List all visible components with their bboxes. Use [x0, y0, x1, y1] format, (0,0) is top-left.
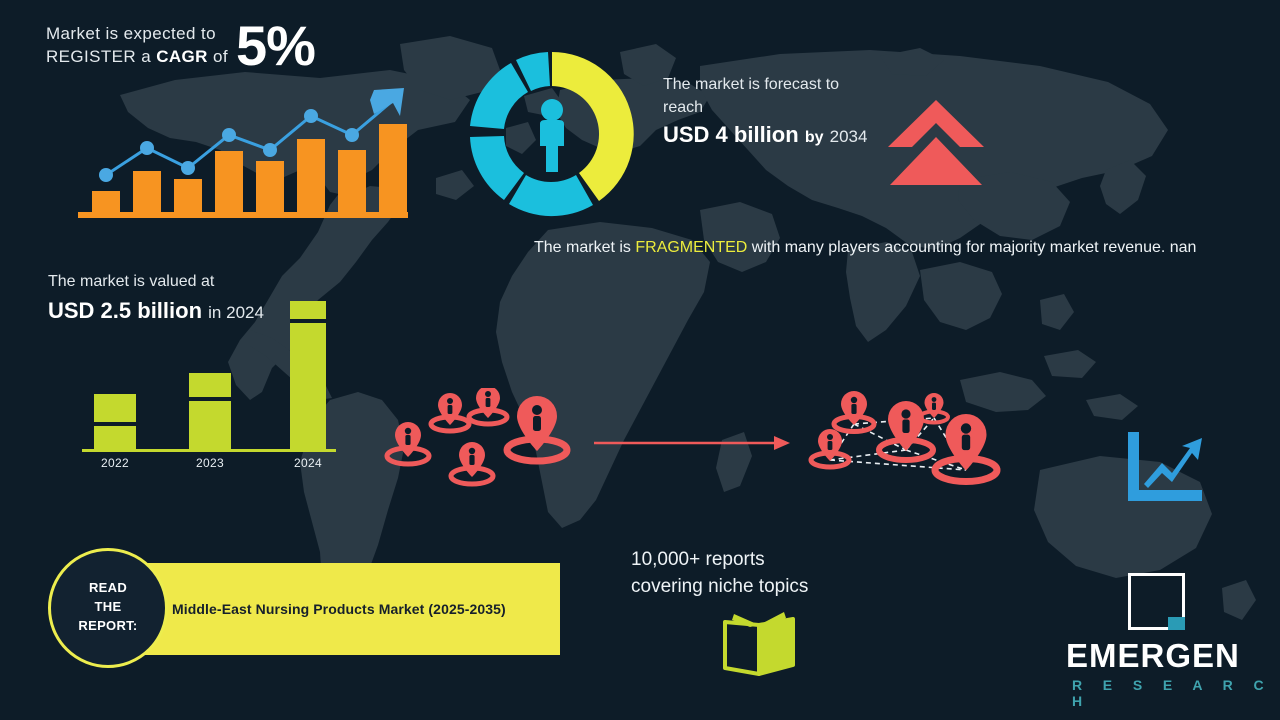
- lime-chart-baseline: [82, 449, 336, 452]
- forecast-year: 2034: [830, 127, 868, 146]
- badge-line-1: READ: [89, 580, 127, 595]
- badge-line-2: THE: [95, 599, 122, 614]
- map-pin-person-icon: [387, 388, 567, 484]
- reports-line-1: 10,000+ reports: [631, 549, 765, 571]
- cagr-of-text: of: [208, 47, 228, 66]
- cagr-keyword: CAGR: [156, 47, 208, 66]
- forecast-value-row: USD 4 billion by 2034: [663, 122, 867, 148]
- scattered-market-players-cluster: [382, 388, 572, 493]
- growth-chart-icon: [1124, 430, 1206, 506]
- fragmented-post: with many players accounting for majorit…: [747, 239, 1196, 256]
- donut-slice-cyan-3: [470, 63, 528, 129]
- market-value-year: in 2024: [208, 303, 264, 322]
- cagr-value: 5%: [236, 18, 315, 74]
- logo-wordmark: EMERGEN: [1066, 637, 1240, 675]
- value-line-2: USD 2.5 billion in 2024: [48, 298, 264, 324]
- map-pin-person-icon: [811, 391, 997, 482]
- donut-slice-yellow: [552, 52, 634, 201]
- read-report-badge-text[interactable]: READ THE REPORT:: [48, 578, 168, 635]
- market-value: USD 2.5 billion: [48, 298, 202, 323]
- fragmented-highlight: FRAGMENTED: [635, 239, 747, 256]
- bar-label-2022: 2022: [90, 456, 140, 470]
- bar-2023: [189, 373, 231, 449]
- trend-chart-bars: [92, 124, 407, 212]
- cagr-line-1: Market is expected to: [46, 24, 216, 44]
- donut-slice-cyan-2: [470, 136, 524, 200]
- cagr-register-text: REGISTER a: [46, 47, 156, 66]
- book-right-page: [759, 619, 793, 674]
- logo-subtitle: R E S E A R C H: [1072, 677, 1280, 709]
- report-title[interactable]: Middle-East Nursing Products Market (202…: [172, 601, 572, 617]
- open-book-icon: [720, 612, 798, 676]
- donut-slice-cyan-1: [509, 175, 593, 216]
- value-line-1: The market is valued at: [48, 273, 214, 291]
- logo-accent-block: [1168, 617, 1185, 630]
- bar-2024-divider: [290, 319, 326, 323]
- double-chevron-up-icon: [886, 95, 986, 187]
- growth-trend-bar-line-chart: [74, 84, 414, 224]
- consolidation-arrow-icon: [594, 432, 794, 454]
- bar-label-2024: 2024: [283, 456, 333, 470]
- market-share-donut-chart: [466, 48, 638, 220]
- bar-label-2023: 2023: [185, 456, 235, 470]
- fragmented-pre: The market is: [534, 239, 635, 256]
- bar-2022-divider: [94, 422, 136, 426]
- cagr-line-2: REGISTER a CAGR of: [46, 47, 228, 67]
- forecast-value: USD 4 billion: [663, 122, 799, 147]
- trend-chart-baseline: [78, 212, 408, 218]
- trend-arrow-icon: [370, 88, 404, 116]
- bar-2024: [290, 301, 326, 449]
- book-left-page: [725, 622, 759, 674]
- infographic-canvas: Market is expected to REGISTER a CAGR of…: [0, 0, 1280, 720]
- fragmented-statement: The market is FRAGMENTED with many playe…: [534, 237, 1214, 259]
- bar-2023-divider: [189, 397, 231, 401]
- badge-line-3: REPORT:: [78, 618, 137, 633]
- forecast-by-label: by: [805, 129, 824, 146]
- forecast-line-2: reach: [663, 99, 703, 117]
- forecast-line-1: The market is forecast to: [663, 76, 839, 94]
- connected-market-players-cluster: [806, 388, 1006, 500]
- person-icon: [540, 99, 564, 172]
- reports-line-2: covering niche topics: [631, 576, 808, 598]
